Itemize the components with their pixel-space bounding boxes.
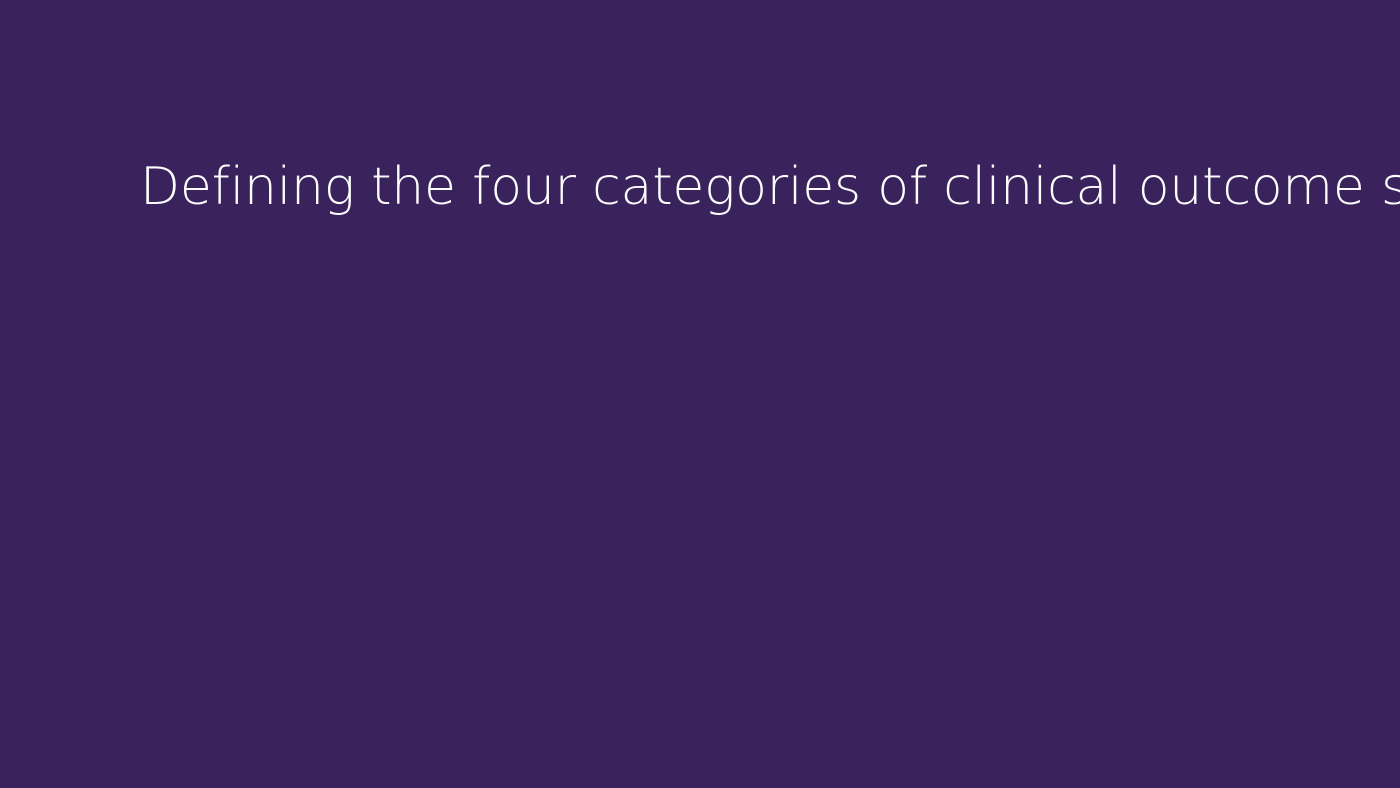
title-placeholder[interactable]: Defining the four categories of clinical… [140,158,1270,230]
content-placeholder[interactable] [140,262,1270,712]
page-title: Defining the four categories of clinical… [140,158,1400,216]
slide-canvas: Defining the four categories of clinical… [0,0,1400,788]
